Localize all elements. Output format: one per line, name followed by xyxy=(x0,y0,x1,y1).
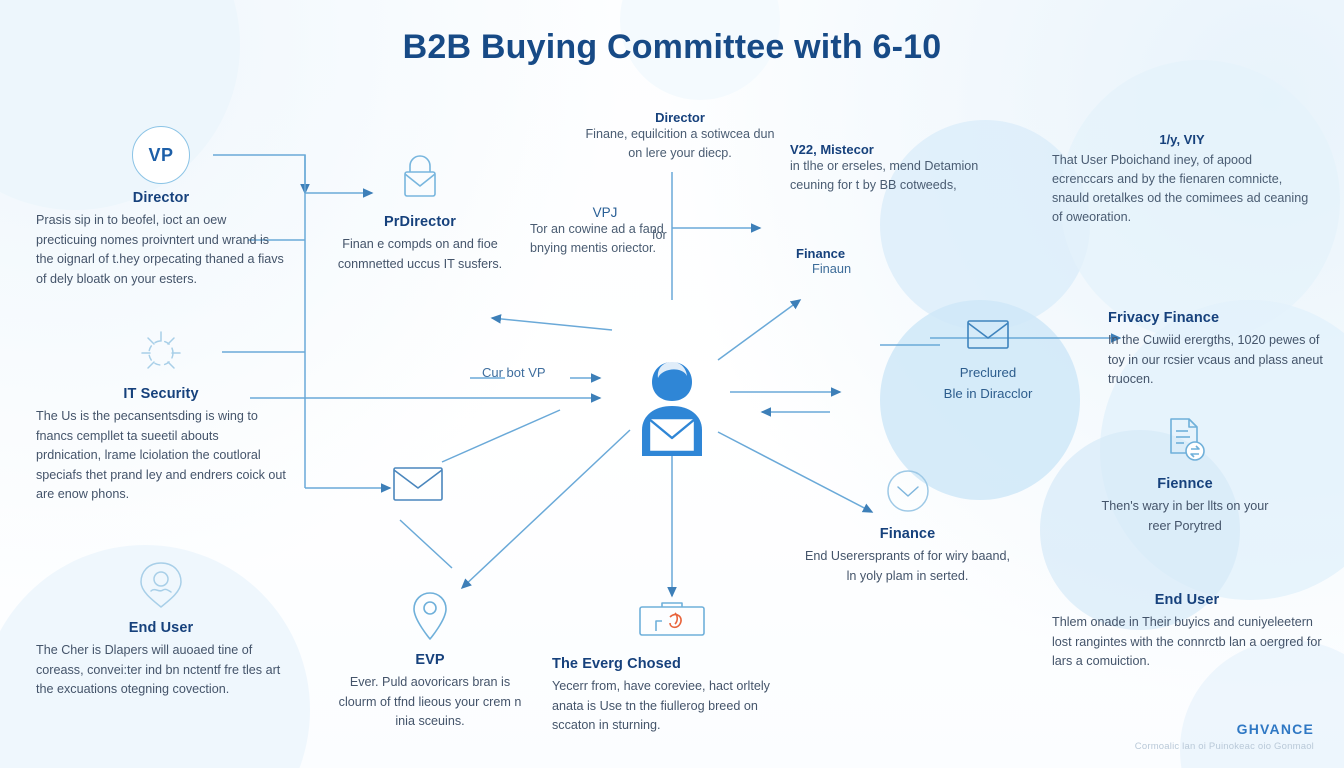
node-title: Fiennce xyxy=(1090,476,1280,492)
node-pr-director[interactable]: PrDirector Finan e compds on and fioe co… xyxy=(330,150,510,274)
node-body: Prasis sip in to beofel, ioct an oew pre… xyxy=(36,211,286,289)
vp-badge-label: VP xyxy=(148,145,173,166)
node-title: 1/y, VIY xyxy=(1052,132,1312,147)
node-title: End User xyxy=(36,620,286,636)
mail-lock-icon xyxy=(330,150,510,208)
label-cur-bot-vp: Cur bot VP xyxy=(482,365,546,380)
toolbox-icon xyxy=(552,592,792,650)
footer-tagline: Cormoalic lan oi Puinokeac oio Gonmaol xyxy=(1135,741,1314,752)
node-body: That User Pboichand iney, of apood ecren… xyxy=(1052,151,1312,227)
node-it-security[interactable]: IT Security The Us is the pecansentsding… xyxy=(36,322,286,505)
page-title: B2B Buying Committee with 6-10 xyxy=(0,28,1344,67)
node-line-1: Preclured xyxy=(898,362,1078,383)
node-title: V22, Mistecor xyxy=(790,142,1005,157)
gear-sun-icon xyxy=(36,322,286,380)
node-body: In the Cuwiid erergths, 1020 pewes of to… xyxy=(1108,331,1338,390)
node-line-2: Ble in Diracclor xyxy=(898,383,1078,404)
node-body: in tlhe or erseles, mend Detamion ceunin… xyxy=(790,157,1005,195)
node-title: EVP xyxy=(330,652,530,668)
vp-circle-icon: VP xyxy=(36,126,286,184)
label-finance-center[interactable]: Finance Finaun xyxy=(796,246,936,276)
node-title: Director xyxy=(36,190,286,206)
node-title: End User xyxy=(1052,592,1322,608)
footer: GHVANCE Cormoalic lan oi Puinokeac oio G… xyxy=(1135,721,1314,752)
node-body: Yecerr from, have coreviee, hact orltely… xyxy=(552,677,792,736)
node-body: Finane, equilcition a sotiwcea dun on le… xyxy=(580,125,780,163)
node-finance-chevron[interactable]: Finance End Userersprants of for wiry ba… xyxy=(800,462,1015,586)
label-v22[interactable]: V22, Mistecor in tlhe or erseles, mend D… xyxy=(790,142,1005,195)
person-envelope-icon xyxy=(624,356,720,465)
node-body: Then's wary in ber llts on your reer Por… xyxy=(1090,497,1280,536)
node-everg-chosed[interactable]: The Everg Chosed Yecerr from, have corev… xyxy=(552,592,792,736)
node-title: Frivacy Finance xyxy=(1108,310,1338,326)
mail-icon xyxy=(388,462,448,504)
node-subtitle: Finaun xyxy=(812,261,936,276)
node-body: Ever. Puld aovoricars bran is clourm of … xyxy=(330,673,530,732)
infographic-canvas: B2B Buying Committee with 6-10 VP Direct… xyxy=(0,0,1344,768)
map-pin-icon xyxy=(330,588,530,646)
label-director-top[interactable]: Director Finane, equilcition a sotiwcea … xyxy=(580,110,780,163)
node-title: VPJ xyxy=(530,205,680,220)
node-title: Finance xyxy=(796,246,936,261)
label-for: for xyxy=(652,228,667,242)
mail-icon xyxy=(898,312,1078,356)
node-body: The Us is the pecansentsding is wing to … xyxy=(36,407,286,505)
chevron-down-circle-icon xyxy=(800,462,1015,520)
node-body: End Userersprants of for wiry baand, ln … xyxy=(800,547,1015,586)
node-body: The Cher is Dlapers will auoaed tine of … xyxy=(36,641,286,700)
node-body: Finan e compds on and fioe conmnetted uc… xyxy=(330,235,510,274)
node-body: Thlem onade in Their buyics and cuniyele… xyxy=(1052,613,1322,672)
node-vp-director[interactable]: VP Director Prasis sip in to beofel, ioc… xyxy=(36,126,286,289)
brand-logo-text: GHVANCE xyxy=(1135,721,1314,737)
node-evp[interactable]: EVP Ever. Puld aovoricars bran is clourm… xyxy=(330,588,530,732)
node-title: IT Security xyxy=(36,386,286,402)
node-title: Director xyxy=(580,110,780,125)
node-precluded[interactable]: Preclured Ble in Diracclor xyxy=(898,312,1078,404)
label-vy-viy[interactable]: 1/y, VIY That User Pboichand iney, of ap… xyxy=(1052,132,1312,227)
node-fiennce[interactable]: Fiennce Then's wary in ber llts on your … xyxy=(1090,412,1280,536)
node-title: The Everg Chosed xyxy=(552,656,792,672)
node-end-user-left[interactable]: End User The Cher is Dlapers will auoaed… xyxy=(36,556,286,700)
location-person-icon xyxy=(36,556,286,614)
node-end-user-right[interactable]: End User Thlem onade in Their buyics and… xyxy=(1052,592,1322,672)
node-mail-standalone[interactable] xyxy=(388,462,448,510)
document-sync-icon xyxy=(1090,412,1280,470)
node-privacy-finance[interactable]: Frivacy Finance In the Cuwiid erergths, … xyxy=(1108,310,1338,390)
node-hub-person-envelope[interactable] xyxy=(624,356,720,460)
node-title: PrDirector xyxy=(330,214,510,230)
node-title: Finance xyxy=(800,526,1015,542)
